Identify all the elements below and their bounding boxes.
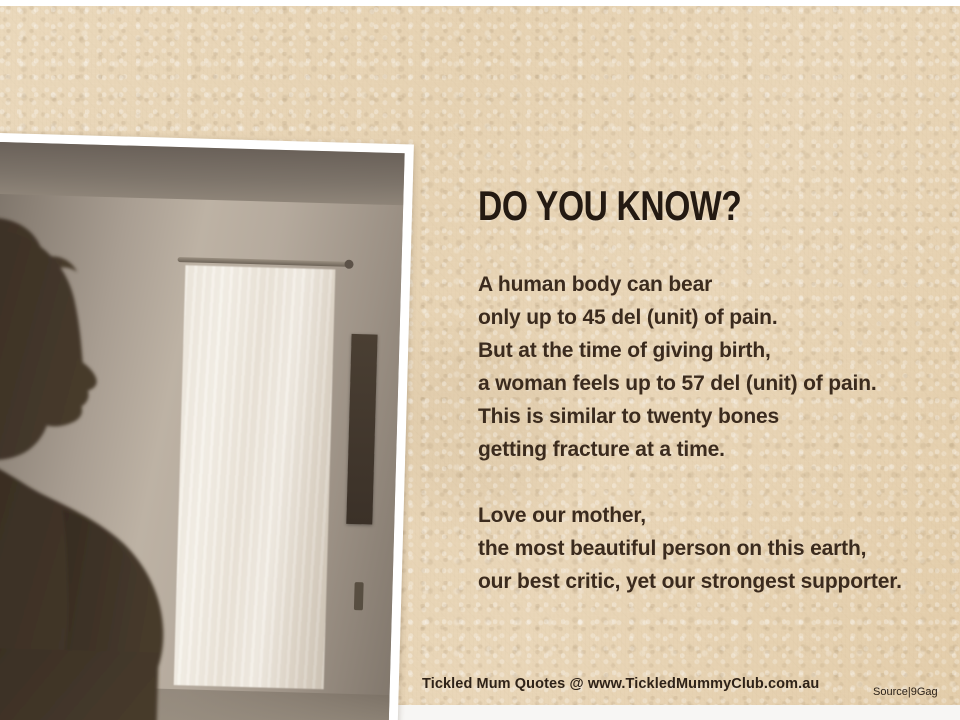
photo-image [0, 141, 405, 720]
wall-fixture [354, 582, 364, 610]
page-title: DO YOU KNOW? [478, 182, 741, 230]
body-copy: A human body can bear only up to 45 del … [478, 268, 948, 598]
body-line: a woman feels up to 57 del (unit) of pai… [478, 367, 948, 400]
wall-picture-frame [346, 334, 377, 525]
body-line: Love our mother, [478, 499, 948, 532]
body-line: only up to 45 del (unit) of pain. [478, 301, 948, 334]
body-line: the most beautiful person on this earth, [478, 532, 948, 565]
paragraph-spacer [478, 466, 948, 499]
body-line: our best critic, yet our strongest suppo… [478, 565, 948, 598]
body-line: This is similar to twenty bones [478, 400, 948, 433]
body-line: But at the time of giving birth, [478, 334, 948, 367]
body-line: getting fracture at a time. [478, 433, 948, 466]
page-top-edge [0, 0, 960, 6]
paragraph-1: A human body can bear only up to 45 del … [478, 268, 948, 466]
body-line: A human body can bear [478, 268, 948, 301]
paragraph-2: Love our mother, the most beautiful pers… [478, 499, 948, 598]
source-attribution: Source|9Gag [873, 686, 938, 698]
pregnant-woman-silhouette-icon [0, 176, 342, 720]
photo-frame [0, 131, 414, 720]
poster-canvas: DO YOU KNOW? A human body can bear only … [0, 0, 960, 720]
footer-credit: Tickled Mum Quotes @ www.TickledMummyClu… [422, 676, 819, 692]
